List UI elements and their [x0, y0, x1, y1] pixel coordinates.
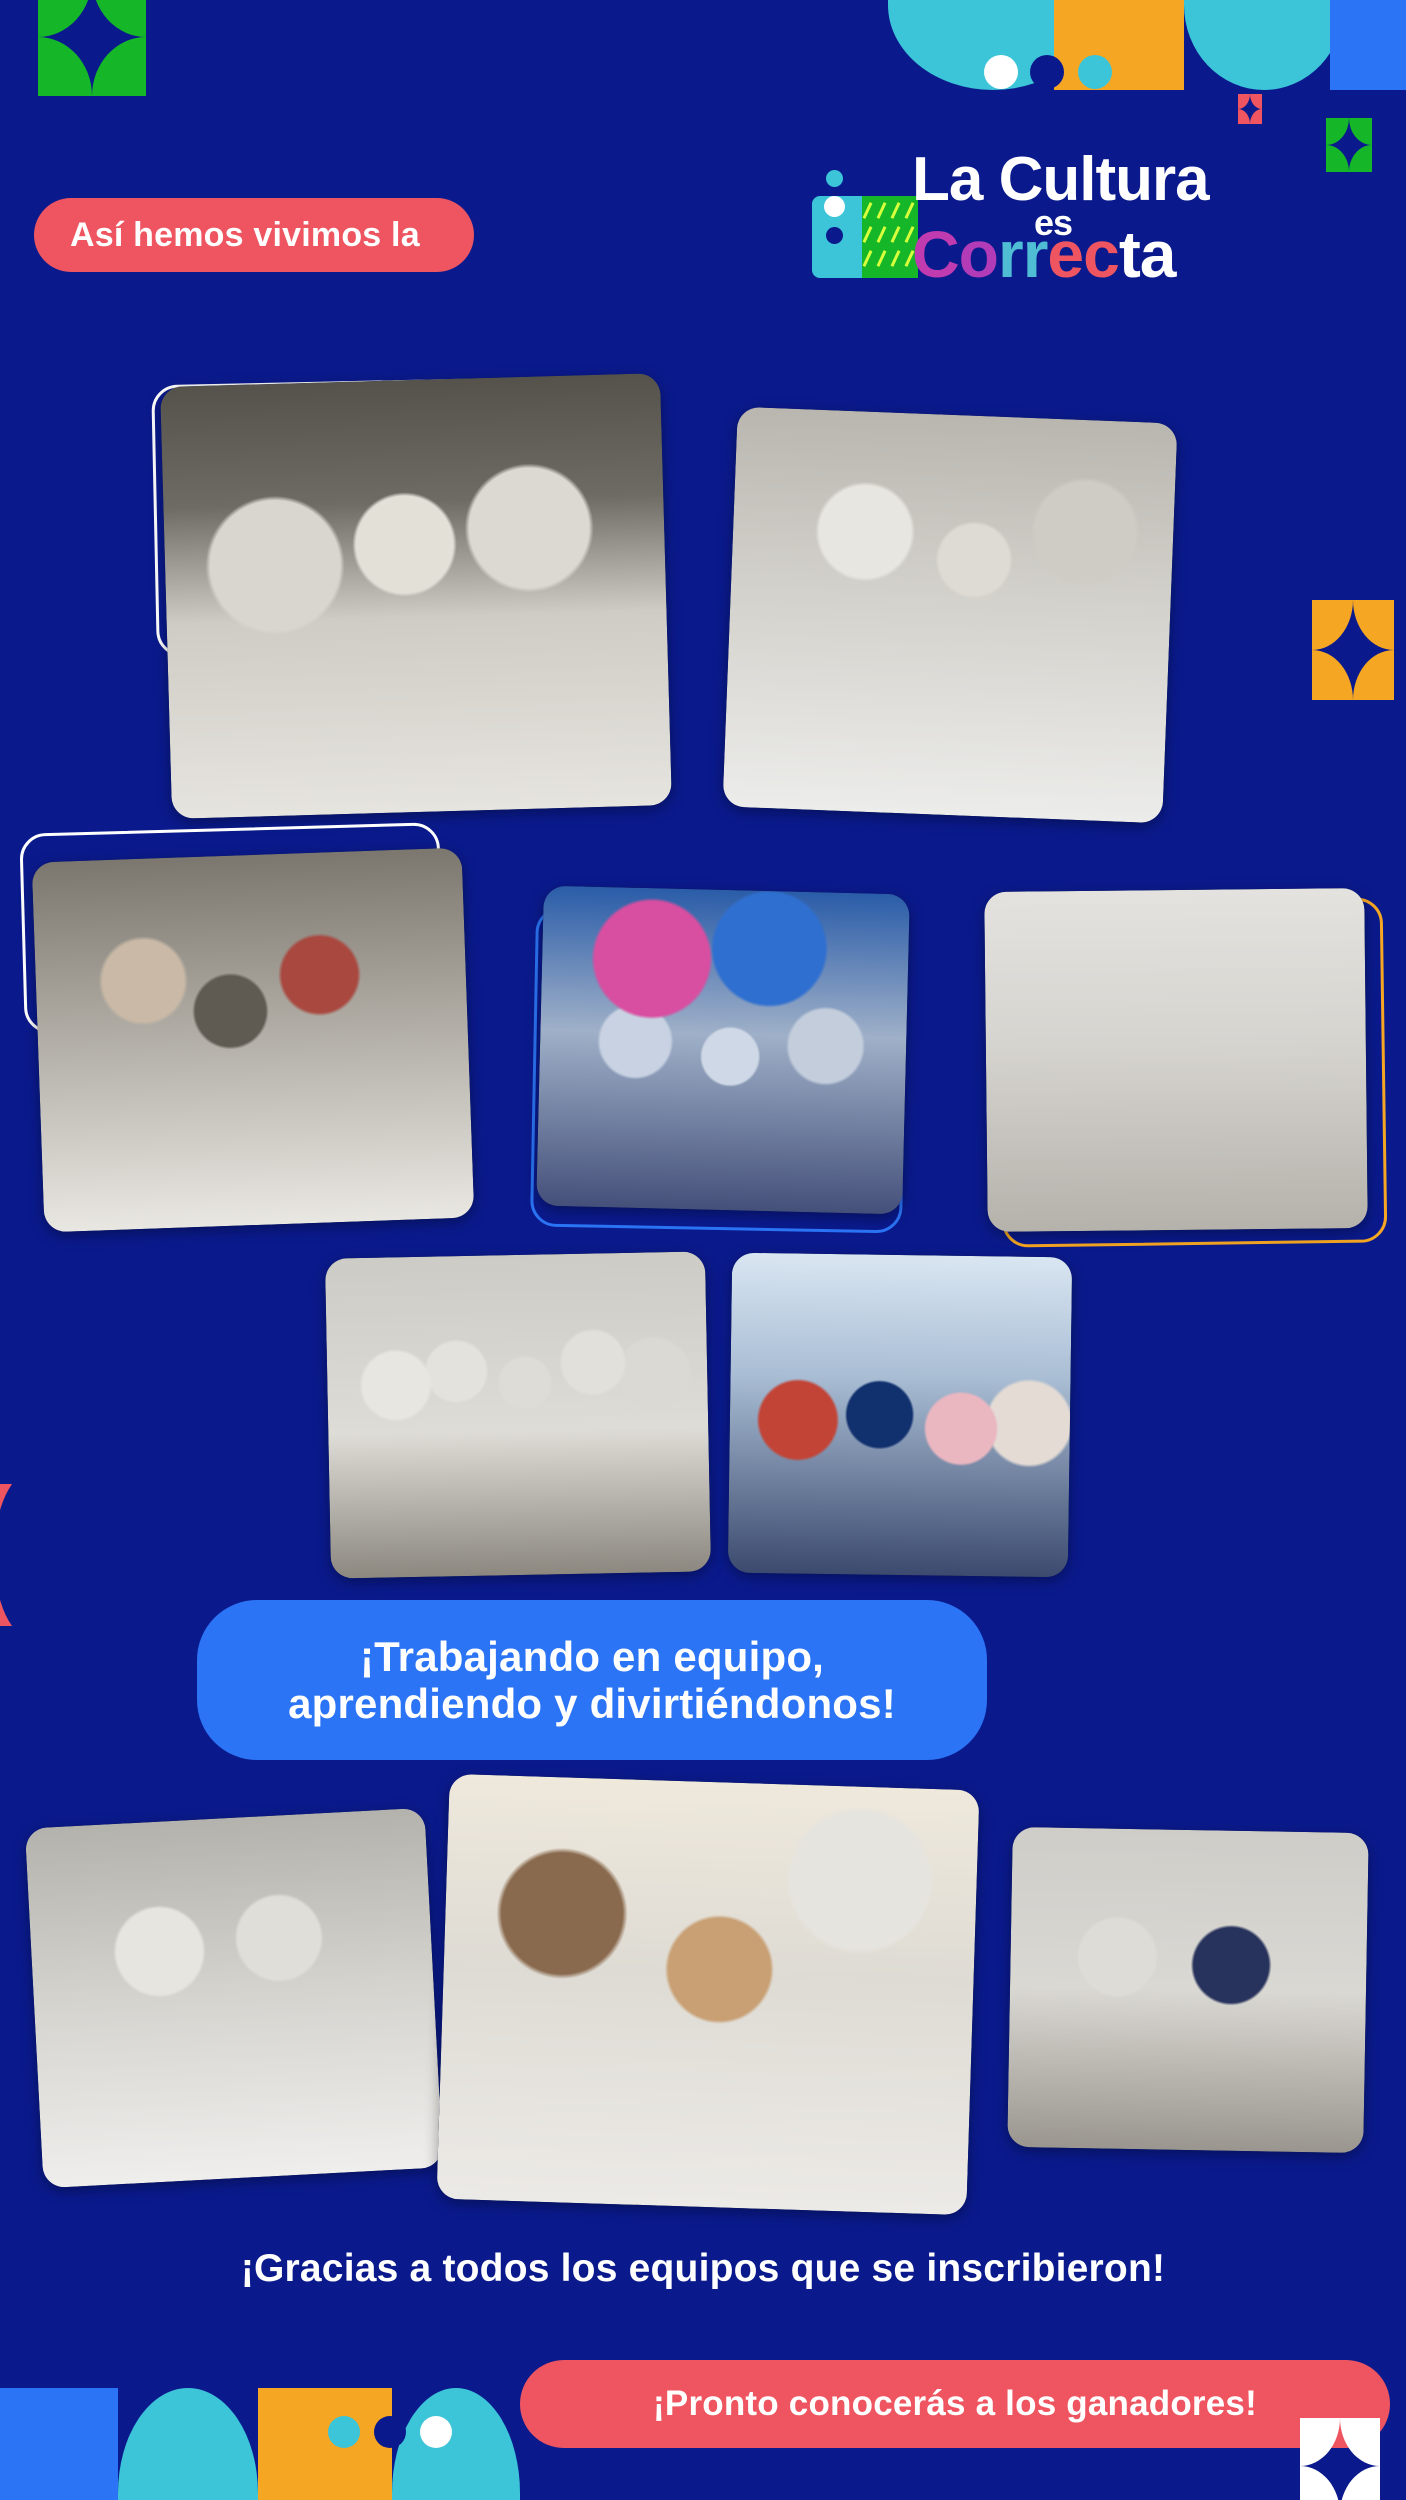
photo-1: Tres trabajadores con uniforme blanco y … — [160, 373, 672, 819]
photo-7-image — [728, 1253, 1072, 1578]
photo-6: Equipo de cinco personas con certificado… — [325, 1251, 711, 1578]
photo-5: Sala de capacitación con pendón de la Cu… — [984, 888, 1368, 1232]
middle-banner-line1: ¡Trabajando en equipo, — [360, 1633, 824, 1680]
logo-letter-r: r — [1023, 216, 1048, 292]
photo-5-image — [984, 888, 1368, 1232]
photo-8-image — [25, 1808, 443, 2188]
bottom-left-decoration-band — [0, 2388, 520, 2500]
sparkle-orange-right-icon — [1312, 600, 1394, 700]
deco-dot-white-bottom — [420, 2416, 452, 2448]
photo-1-image — [160, 373, 672, 819]
logo-text-correcta: Correcta — [912, 216, 1176, 292]
deco-teal-arch-bottom-right — [392, 2388, 520, 2500]
photo-4: Tres compañeros sonriendo frente a una p… — [536, 886, 910, 1215]
deco-dot-teal-bottom — [328, 2416, 360, 2448]
logo-letter-o: o — [959, 216, 998, 292]
logo-dot-white — [824, 196, 845, 217]
deco-blue-rect-bottom — [0, 2388, 118, 2500]
logo-dot-teal — [826, 170, 843, 187]
poster-canvas: Así hemos vivimos la La Cultura es Corre… — [0, 0, 1406, 2500]
photo-10: Dos colaboradoras de pie en un salón de … — [1007, 1827, 1369, 2153]
sparkle-red-logo-top-icon — [1238, 94, 1262, 124]
photo-10-image — [1007, 1827, 1369, 2153]
photo-4-image — [536, 886, 910, 1215]
deco-dot-navy-top — [1030, 55, 1064, 89]
middle-banner-line2: aprendiendo y divirtiéndonos! — [288, 1680, 896, 1727]
logo-letter-t: t — [1119, 216, 1140, 292]
deco-teal-arch-left — [888, 0, 1098, 90]
logo-square-green — [862, 196, 918, 278]
middle-banner: ¡Trabajando en equipo, aprendiendo y div… — [197, 1600, 987, 1760]
brand-logo-icon — [812, 170, 912, 278]
photo-2-image — [722, 407, 1177, 824]
logo-letter-e: e — [1047, 216, 1083, 292]
photo-8: Dos trabajadores realizando un experimen… — [25, 1808, 443, 2188]
photo-9-image — [436, 1774, 979, 2215]
logo-letter-r: r — [998, 216, 1023, 292]
photo-3-image — [32, 848, 475, 1233]
photo-3: Compañeros construyendo una torre de blo… — [32, 848, 475, 1233]
deco-blue-rect — [1330, 0, 1406, 90]
brand-logo: La Cultura es Correcta — [812, 150, 1402, 280]
deco-dot-navy-bottom — [374, 2416, 406, 2448]
deco-dot-white-top — [984, 55, 1018, 89]
deco-orange-rect-bottom — [258, 2388, 392, 2500]
photo-6-image — [325, 1251, 711, 1578]
header-banner: Así hemos vivimos la — [34, 198, 474, 272]
deco-coral-half-circle-left — [0, 1484, 34, 1626]
deco-navy-lens-left — [0, 1470, 74, 1640]
logo-letter-a: a — [1140, 216, 1176, 292]
photo-2: Equipo en uniforme blanco trabajando con… — [722, 407, 1177, 824]
logo-letter-c: c — [1083, 216, 1119, 292]
winners-banner: ¡Pronto conocerás a los ganadores! — [520, 2360, 1390, 2448]
deco-orange-rect — [1054, 0, 1184, 90]
thanks-text: ¡Gracias a todos los equipos que se insc… — [0, 2247, 1406, 2291]
photo-7: Cuatro personas con plantas frente al te… — [728, 1253, 1072, 1578]
winners-banner-text: ¡Pronto conocerás a los ganadores! — [653, 2384, 1257, 2423]
deco-teal-arch-bottom-left — [118, 2388, 258, 2500]
photo-9: Equipo riendo alrededor de una mesa con … — [436, 1774, 979, 2215]
deco-teal-arch-right — [1184, 0, 1344, 90]
top-right-decoration-band — [888, 0, 1406, 90]
logo-letter-C: C — [912, 216, 959, 292]
sparkle-green-top-left-icon — [38, 0, 146, 96]
logo-dot-navy — [826, 227, 843, 244]
deco-dot-teal-top — [1078, 55, 1112, 89]
header-banner-text: Así hemos vivimos la — [70, 216, 420, 254]
